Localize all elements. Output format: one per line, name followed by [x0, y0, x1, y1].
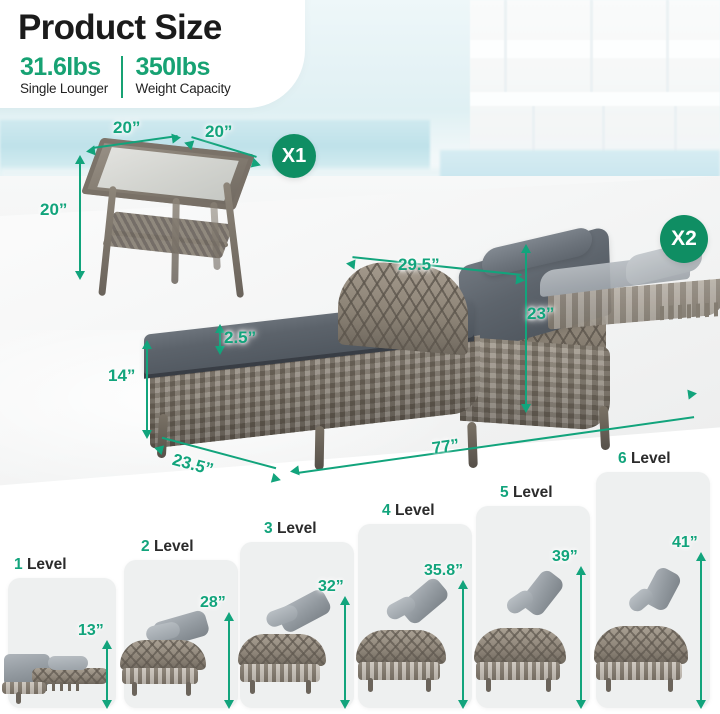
product-size-infographic: Product Size 31.6lbs Single Lounger 350l… [0, 0, 720, 714]
level-caption-2: 2 Level [141, 538, 194, 556]
level-word-4: Level [395, 502, 435, 519]
lounger-leg [467, 422, 478, 468]
stat-capacity-label: Weight Capacity [136, 81, 231, 96]
level-2-arrow-up [224, 612, 234, 621]
level-panel-2 [124, 560, 238, 708]
level-panel-1 [8, 578, 116, 708]
table-height-line [79, 163, 81, 273]
level-caption-1: 1 Level [14, 556, 67, 574]
level-caption-3: 3 Level [264, 520, 317, 538]
lounger-backheight-arrow-up [521, 244, 531, 253]
lounger-backheight-line [525, 252, 527, 406]
level-1-height-label: 13” [78, 622, 104, 640]
lounger-armspan-label: 29.5” [398, 255, 440, 275]
second-lounger-illustration [540, 248, 720, 358]
level-word-6: Level [631, 450, 671, 467]
level-2-height-line [228, 620, 230, 704]
level-4-arrow-up [458, 580, 468, 589]
lounger-leg [315, 426, 325, 470]
level-3-arrow-down [340, 700, 350, 709]
level-3-height-line [344, 604, 346, 704]
level-panel-4 [358, 524, 472, 708]
level-2-arrow-down [224, 700, 234, 709]
lounger-length-label: 77” [431, 435, 461, 459]
level-6-height-line [700, 560, 702, 704]
level-word-5: Level [513, 484, 553, 501]
level-4-arrow-down [458, 700, 468, 709]
level-number-6: 6 [618, 450, 627, 467]
level-word-1: Level [27, 556, 67, 573]
quantity-badge-lounger: X2 [660, 215, 708, 263]
level-4-height-label: 35.8” [424, 562, 463, 580]
level-5-arrow-down [576, 700, 586, 709]
level-6-height-label: 41” [672, 534, 698, 552]
spec-stats-row: 31.6lbs Single Lounger 350lbs Weight Cap… [20, 54, 231, 98]
lounger-seatheight-arrow-up [142, 340, 152, 349]
stat-weight-value: 31.6lbs [20, 54, 108, 80]
level-number-2: 2 [141, 538, 150, 555]
table-width-arrow-left [85, 145, 95, 156]
stat-capacity: 350lbs Weight Capacity [136, 54, 231, 96]
table-depth-label: 20” [205, 122, 232, 142]
level-caption-6: 6 Level [618, 450, 671, 468]
lounger-backheight-label: 23” [527, 304, 554, 324]
table-height-label: 20” [40, 200, 67, 220]
page-title: Product Size [18, 8, 222, 48]
level-3-height-label: 32” [318, 578, 344, 596]
stat-weight: 31.6lbs Single Lounger [20, 54, 108, 96]
level-panel-6 [596, 472, 710, 708]
level-5-arrow-up [576, 566, 586, 575]
quantity-badge-table: X1 [272, 134, 316, 178]
modern-house-background [470, 0, 720, 175]
level-1-arrow-down [102, 700, 112, 709]
level-caption-4: 4 Level [382, 502, 435, 520]
level-1-height-line [106, 648, 108, 704]
level-5-height-label: 39” [552, 548, 578, 566]
level-5-height-line [580, 574, 582, 704]
level-3-arrow-up [340, 596, 350, 605]
level-panel-3 [240, 542, 354, 708]
level-6-arrow-up [696, 552, 706, 561]
stat-weight-label: Single Lounger [20, 81, 108, 96]
lounger-backheight-arrow-down [521, 404, 531, 413]
level-number-5: 5 [500, 484, 509, 501]
lounger-length-arrow-right [687, 388, 697, 399]
level-caption-5: 5 Level [500, 484, 553, 502]
stat-divider [121, 56, 123, 98]
table-width-arrow-right [171, 132, 181, 143]
level-number-3: 3 [264, 520, 273, 537]
lounger-seatheight-label: 14” [108, 366, 135, 386]
level-word-2: Level [154, 538, 194, 555]
stat-capacity-value: 350lbs [136, 54, 231, 80]
lounger-seatheight-arrow-down [142, 430, 152, 439]
level-word-3: Level [277, 520, 317, 537]
level-1-arrow-up [102, 640, 112, 649]
table-height-arrow-up [75, 155, 85, 164]
lounger-length-arrow-left [289, 465, 299, 476]
level-number-1: 1 [14, 556, 23, 573]
lounger-seatheight-line [146, 348, 148, 432]
table-width-label: 20” [113, 118, 140, 138]
lounger-cushion-label: 2.5” [224, 328, 256, 348]
table-height-arrow-down [75, 271, 85, 280]
level-4-height-line [462, 588, 464, 704]
level-6-arrow-down [696, 700, 706, 709]
level-panel-5 [476, 506, 590, 708]
level-number-4: 4 [382, 502, 391, 519]
level-2-height-label: 28” [200, 594, 226, 612]
lounger-armspan-arrow-right [516, 275, 526, 286]
lounger-armspan-arrow-left [346, 259, 356, 270]
